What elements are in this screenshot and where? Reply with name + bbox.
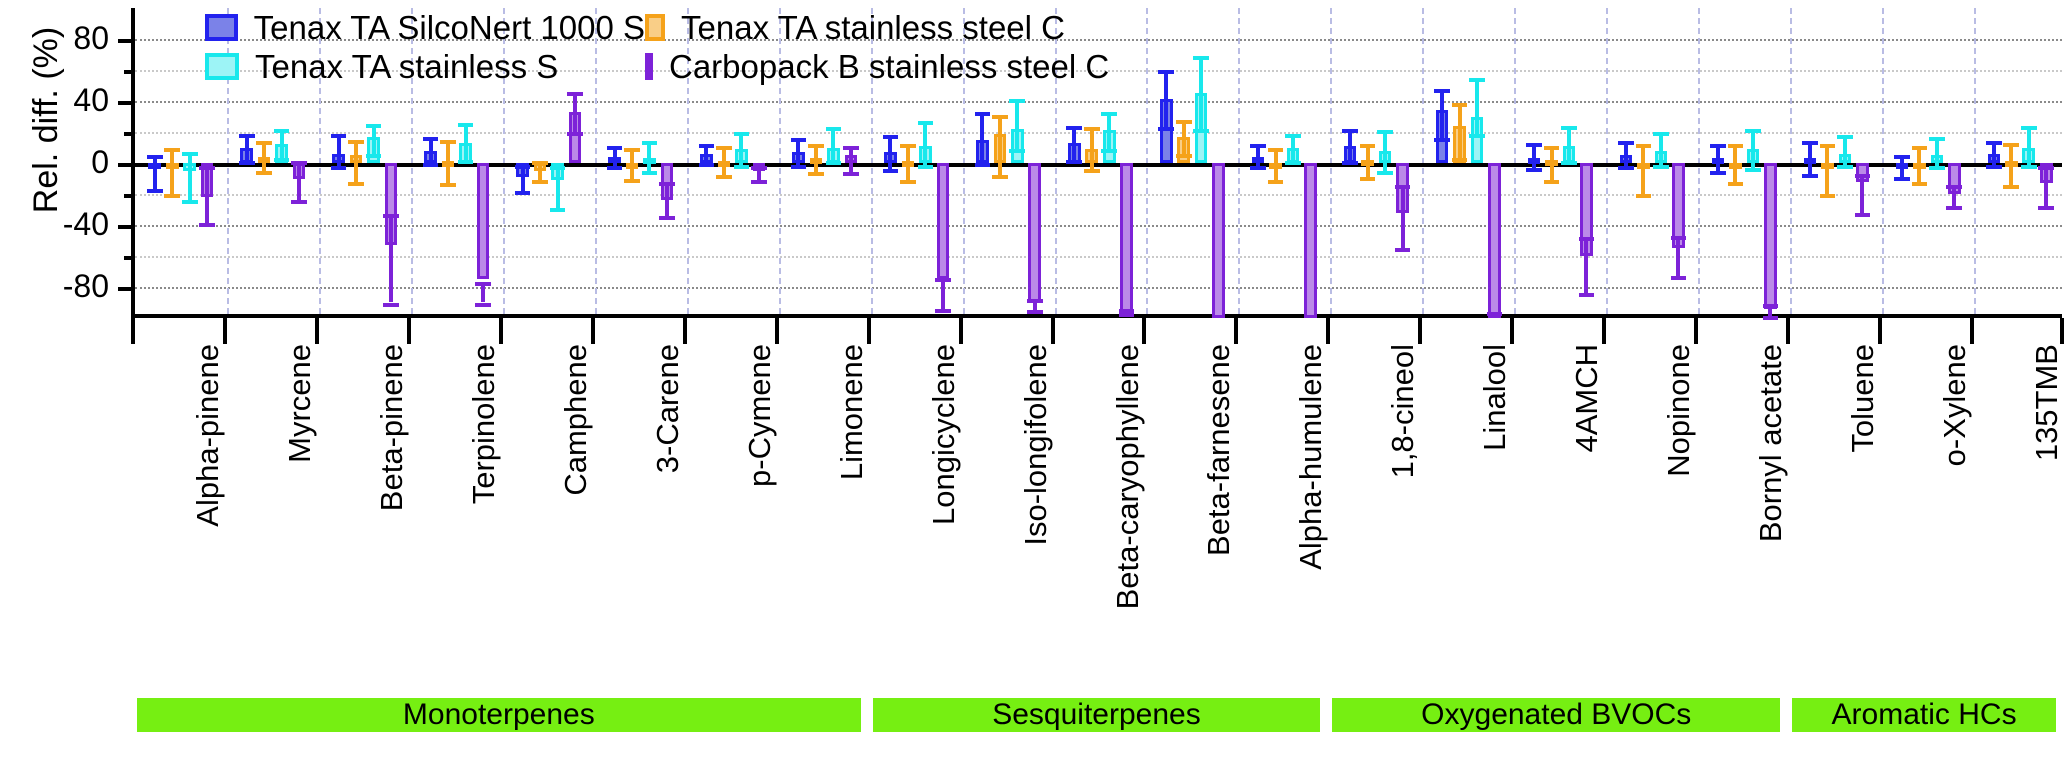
y-axis-tick-minor: [124, 256, 135, 260]
bar: [1488, 163, 1501, 318]
error-cap-upper: [808, 144, 824, 148]
error-bar: [1584, 237, 1588, 293]
error-cap-lower: [1820, 194, 1836, 198]
category-band: Aromatic HCs: [1792, 698, 2056, 732]
error-cap-upper: [475, 282, 491, 286]
error-cap-lower: [1671, 276, 1687, 280]
error-cap-upper: [1710, 144, 1726, 148]
x-axis-tick: [591, 318, 595, 344]
error-bar: [923, 121, 927, 164]
error-cap-upper: [1342, 129, 1358, 133]
error-cap-lower: [1929, 166, 1945, 170]
error-bar: [1401, 185, 1405, 249]
x-axis-tick: [499, 318, 503, 344]
error-cap-upper: [1487, 312, 1503, 316]
x-axis-tick: [1142, 318, 1146, 344]
error-cap-lower: [1027, 310, 1043, 314]
error-cap-lower: [440, 183, 456, 187]
y-axis-tick-minor: [124, 70, 135, 74]
error-cap-upper: [1360, 144, 1376, 148]
error-cap-lower: [751, 180, 767, 184]
error-cap-upper: [918, 121, 934, 125]
bar-group: [1974, 8, 2066, 314]
error-cap-upper: [1579, 237, 1595, 241]
error-cap-upper: [659, 182, 675, 186]
error-bar: [1550, 146, 1554, 180]
error-cap-lower: [532, 180, 548, 184]
error-bar: [280, 129, 284, 158]
error-cap-upper: [826, 127, 842, 131]
error-cap-lower: [1434, 138, 1450, 142]
x-axis-category-label: Myrcene: [282, 344, 318, 463]
error-cap-upper: [1855, 174, 1871, 178]
error-cap-upper: [550, 166, 566, 170]
bar: [1764, 163, 1777, 309]
error-cap-upper: [1176, 120, 1192, 124]
error-bar: [389, 214, 393, 302]
error-cap-lower: [567, 132, 583, 136]
error-cap-upper: [199, 166, 215, 170]
x-axis-category-label: Iso-longifolene: [1018, 344, 1054, 546]
error-cap-lower: [1802, 174, 1818, 178]
bar-group: [1330, 8, 1422, 314]
error-cap-lower: [239, 161, 255, 165]
error-cap-lower: [642, 171, 658, 175]
x-axis-category-label: Longicyclene: [926, 344, 962, 525]
y-axis-tick: [118, 163, 135, 167]
error-cap-upper: [751, 166, 767, 170]
error-bar: [1383, 130, 1387, 170]
error-cap-upper: [1837, 135, 1853, 139]
x-axis-category-label: p-Cymene: [742, 344, 778, 487]
error-cap-upper: [1946, 185, 1962, 189]
error-cap-upper: [975, 112, 991, 116]
error-cap-lower: [1066, 160, 1082, 164]
x-axis-tick: [1602, 318, 1606, 344]
error-cap-upper: [1526, 143, 1542, 147]
error-cap-lower: [2021, 165, 2037, 169]
error-cap-upper: [1084, 127, 1100, 131]
bar-group: [1238, 8, 1330, 314]
error-cap-lower: [1855, 213, 1871, 217]
error-cap-lower: [164, 194, 180, 198]
error-bar: [1348, 129, 1352, 162]
error-cap-lower: [1452, 158, 1468, 162]
error-cap-lower: [808, 172, 824, 176]
error-cap-lower: [1377, 171, 1393, 175]
legend-item[interactable]: Tenax TA stainless S: [205, 48, 645, 86]
x-axis-tick: [1326, 318, 1330, 344]
legend-label: Tenax TA stainless steel C: [681, 9, 1065, 47]
error-cap-lower: [1268, 180, 1284, 184]
error-cap-upper: [1728, 144, 1744, 148]
error-cap-lower: [826, 161, 842, 165]
x-axis-category-label: 135TMB: [2029, 344, 2065, 461]
bar: [1212, 163, 1225, 318]
error-cap-upper: [716, 146, 732, 150]
error-bar: [1808, 141, 1812, 174]
error-cap-upper: [1763, 304, 1779, 308]
bar-group: [1514, 8, 1606, 314]
error-bar: [1440, 89, 1444, 139]
x-axis-category-label: Linalool: [1477, 344, 1513, 451]
x-axis-tick: [407, 318, 411, 344]
bar: [1304, 163, 1317, 318]
error-bar: [2009, 143, 2013, 185]
error-cap-upper: [935, 278, 951, 282]
error-cap-lower: [331, 166, 347, 170]
x-axis-category-label: Nopinone: [1661, 344, 1697, 477]
error-cap-upper: [1929, 137, 1945, 141]
x-axis-category-label: Beta-farnesene: [1201, 344, 1237, 556]
error-cap-upper: [1452, 103, 1468, 107]
error-bar: [1676, 236, 1680, 276]
error-cap-upper: [440, 140, 456, 144]
bar: [477, 163, 490, 279]
error-cap-upper: [1894, 155, 1910, 159]
error-bar: [556, 166, 560, 208]
x-axis-category-label: Alpha-humulene: [1293, 344, 1329, 570]
error-cap-upper: [1434, 89, 1450, 93]
error-cap-lower: [1894, 177, 1910, 181]
error-bar: [1641, 144, 1645, 194]
error-cap-lower: [1360, 177, 1376, 181]
error-cap-lower: [1710, 171, 1726, 175]
error-cap-upper: [642, 141, 658, 145]
error-bar: [1090, 127, 1094, 169]
legend-item[interactable]: Tenax TA SilcoNert 1000 S: [205, 9, 645, 47]
error-cap-lower: [1946, 206, 1962, 210]
legend-swatch: [205, 53, 239, 80]
error-cap-lower: [1544, 180, 1560, 184]
x-axis-tick: [1694, 318, 1698, 344]
error-cap-upper: [1544, 146, 1560, 150]
error-cap-upper: [900, 144, 916, 148]
error-cap-upper: [532, 161, 548, 165]
error-cap-lower: [659, 216, 675, 220]
error-cap-lower: [1119, 313, 1135, 317]
error-bar: [1917, 146, 1921, 182]
error-cap-upper: [734, 132, 750, 136]
error-bar: [1072, 126, 1076, 160]
legend-swatch: [645, 53, 653, 80]
legend-item[interactable]: Tenax TA stainless steel C: [645, 9, 1065, 47]
error-cap-upper: [1158, 70, 1174, 74]
error-cap-lower: [383, 303, 399, 307]
error-bar: [1733, 144, 1737, 181]
y-axis-tick-label: 80: [19, 22, 109, 54]
x-axis-tick: [1418, 318, 1422, 344]
error-cap-upper: [699, 144, 715, 148]
error-cap-upper: [1193, 56, 1209, 60]
error-bar: [464, 123, 468, 160]
error-cap-lower: [1618, 166, 1634, 170]
legend-label: Carbopack B stainless steel C: [669, 48, 1109, 86]
error-cap-upper: [1986, 141, 2002, 145]
x-axis-tick: [1510, 318, 1514, 344]
legend-label: Tenax TA SilcoNert 1000 S: [254, 9, 645, 47]
error-bar: [1164, 70, 1168, 127]
error-cap-lower: [274, 158, 290, 162]
error-cap-lower: [734, 165, 750, 169]
error-cap-lower: [348, 182, 364, 186]
x-axis-tick: [959, 318, 963, 344]
error-bar: [980, 112, 984, 163]
y-axis-tick: [118, 39, 135, 43]
error-bar: [1291, 134, 1295, 162]
error-cap-upper: [458, 123, 474, 127]
error-cap-upper: [348, 140, 364, 144]
error-cap-lower: [1561, 161, 1577, 165]
error-cap-upper: [182, 152, 198, 156]
error-cap-lower: [1342, 161, 1358, 165]
error-cap-upper: [1912, 146, 1928, 150]
bar: [1120, 163, 1133, 312]
error-bar: [372, 124, 376, 153]
error-bar: [2027, 126, 2031, 165]
error-bar: [665, 182, 669, 216]
error-cap-upper: [423, 137, 439, 141]
error-cap-lower: [900, 180, 916, 184]
error-cap-lower: [607, 166, 623, 170]
x-axis-tick: [2060, 318, 2064, 344]
error-cap-upper: [256, 141, 272, 145]
error-cap-lower: [2038, 206, 2054, 210]
error-cap-upper: [1066, 126, 1082, 130]
bar-group: [1698, 8, 1790, 314]
error-cap-lower: [1285, 161, 1301, 165]
error-cap-lower: [1636, 194, 1652, 198]
error-bar: [1751, 129, 1755, 168]
error-cap-upper: [164, 148, 180, 152]
error-bar: [446, 140, 450, 183]
error-cap-upper: [1119, 309, 1135, 313]
x-axis-category-label: Alpha-pinene: [190, 344, 226, 527]
error-bar: [170, 148, 174, 195]
error-bar: [739, 132, 743, 165]
error-cap-upper: [1561, 126, 1577, 130]
error-cap-upper: [1009, 99, 1025, 103]
x-axis-tick: [775, 318, 779, 344]
x-axis-category-labels: Alpha-pineneMyrceneBeta-pineneTerpinolen…: [131, 344, 2062, 644]
error-bar: [1458, 103, 1462, 159]
error-bar: [647, 141, 651, 170]
error-bar: [2044, 166, 2048, 206]
category-band: Sesquiterpenes: [873, 698, 1321, 732]
error-cap-lower: [699, 163, 715, 167]
error-cap-lower: [2003, 185, 2019, 189]
error-cap-lower: [843, 172, 859, 176]
error-bar: [1475, 78, 1479, 134]
error-cap-upper: [1671, 236, 1687, 240]
error-cap-lower: [935, 309, 951, 313]
x-axis-tick: [867, 318, 871, 344]
y-axis-tick-label: -80: [19, 270, 109, 302]
error-cap-upper: [239, 134, 255, 138]
error-bar: [188, 152, 192, 200]
bar-group: [1790, 8, 1882, 314]
x-axis-category-label: Limonene: [834, 344, 870, 480]
x-axis-tick: [1234, 318, 1238, 344]
x-axis-category-label: Beta-caryophyllene: [1110, 344, 1146, 609]
bar: [937, 163, 950, 279]
x-axis-category-label: 4AMCH: [1569, 344, 1605, 453]
bar-group: [1606, 8, 1698, 314]
error-cap-lower: [1728, 182, 1744, 186]
x-axis-tick: [1970, 318, 1974, 344]
x-axis-tick: [683, 318, 687, 344]
x-axis-category-label: o-Xylene: [1937, 344, 1973, 466]
x-axis-ticks: [131, 318, 2062, 344]
bar-group: [1882, 8, 1974, 314]
error-cap-lower: [1193, 129, 1209, 133]
error-cap-upper: [791, 138, 807, 142]
error-bar: [297, 161, 301, 200]
error-cap-lower: [1653, 165, 1669, 169]
error-bar: [1935, 137, 1939, 166]
x-axis-category-label: Terpinolene: [466, 344, 502, 504]
y-axis-tick-minor: [124, 132, 135, 136]
error-cap-upper: [1802, 141, 1818, 145]
error-cap-upper: [883, 135, 899, 139]
bar: [1028, 163, 1041, 303]
error-cap-upper: [331, 134, 347, 138]
error-cap-upper: [2021, 126, 2037, 130]
error-cap-lower: [1745, 168, 1761, 172]
y-axis-tick: [118, 101, 135, 105]
legend: Tenax TA SilcoNert 1000 STenax TA stainl…: [205, 8, 1065, 86]
legend-swatch: [205, 14, 238, 41]
x-axis-category-label: Camphene: [558, 344, 594, 496]
error-cap-lower: [716, 175, 732, 179]
error-cap-upper: [567, 92, 583, 96]
error-cap-lower: [182, 200, 198, 204]
error-cap-lower: [475, 303, 491, 307]
error-bar: [1366, 144, 1370, 177]
y-axis-tick: [118, 225, 135, 229]
error-cap-upper: [624, 148, 640, 152]
error-cap-upper: [1377, 130, 1393, 134]
error-cap-lower: [256, 171, 272, 175]
error-cap-upper: [607, 146, 623, 150]
error-cap-upper: [1268, 148, 1284, 152]
error-cap-upper: [383, 214, 399, 218]
error-cap-lower: [883, 169, 899, 173]
error-cap-upper: [1250, 144, 1266, 148]
error-cap-upper: [1745, 129, 1761, 133]
y-axis-tick-label: 0: [19, 146, 109, 178]
error-bar: [262, 141, 266, 170]
x-axis-category-label: Beta-pinene: [374, 344, 410, 511]
x-axis-tick: [223, 318, 227, 344]
error-bar: [337, 134, 341, 167]
x-axis-category-label: Bornyl acetate: [1753, 344, 1789, 542]
error-cap-lower: [1084, 169, 1100, 173]
category-band-row: MonoterpenesSesquiterpenesOxygenated BVO…: [0, 698, 2067, 732]
error-cap-upper: [1618, 141, 1634, 145]
legend-item[interactable]: Carbopack B stainless steel C: [645, 48, 1065, 86]
error-bar: [814, 144, 818, 172]
error-bar: [1199, 56, 1203, 129]
error-cap-upper: [843, 146, 859, 150]
error-bar: [998, 115, 1002, 175]
error-cap-lower: [1009, 149, 1025, 153]
error-bar: [1860, 174, 1864, 213]
x-axis-tick: [1786, 318, 1790, 344]
error-cap-upper: [1027, 299, 1043, 303]
x-axis-tick: [1051, 318, 1055, 344]
legend-swatch: [645, 14, 665, 41]
legend-label: Tenax TA stainless S: [255, 48, 558, 86]
error-cap-lower: [1158, 127, 1174, 131]
error-cap-upper: [1653, 132, 1669, 136]
error-cap-lower: [550, 208, 566, 212]
error-cap-upper: [1636, 144, 1652, 148]
bar-group: [1422, 8, 1514, 314]
error-cap-lower: [1986, 165, 2002, 169]
error-bar: [831, 127, 835, 161]
error-bar: [1107, 112, 1111, 149]
error-cap-lower: [992, 175, 1008, 179]
error-bar: [1015, 99, 1019, 149]
error-cap-upper: [147, 155, 163, 159]
error-cap-lower: [624, 179, 640, 183]
error-bar: [573, 92, 577, 132]
error-cap-lower: [1526, 168, 1542, 172]
y-axis-tick-label: 40: [19, 84, 109, 116]
error-cap-lower: [1579, 293, 1595, 297]
x-axis-category-label: 1,8-cineol: [1385, 344, 1421, 478]
error-cap-lower: [199, 223, 215, 227]
error-cap-lower: [1395, 248, 1411, 252]
error-bar: [1825, 144, 1829, 194]
error-cap-upper: [274, 129, 290, 133]
error-cap-upper: [1820, 144, 1836, 148]
error-bar: [1567, 126, 1571, 162]
error-cap-lower: [975, 163, 991, 167]
error-cap-upper: [291, 161, 307, 165]
x-axis-tick: [315, 318, 319, 344]
error-cap-lower: [423, 163, 439, 167]
error-cap-lower: [366, 154, 382, 158]
chart-root: Rel. diff. (%) 80400-40-80 Tenax TA Silc…: [0, 0, 2067, 757]
error-cap-lower: [1837, 165, 1853, 169]
error-bar: [630, 148, 634, 179]
category-band: Monoterpenes: [137, 698, 861, 732]
y-axis-tick-minor: [124, 194, 135, 198]
error-bar: [906, 144, 910, 180]
error-cap-upper: [2038, 166, 2054, 170]
error-cap-upper: [515, 165, 531, 169]
error-cap-lower: [1469, 134, 1485, 138]
error-cap-upper: [1469, 78, 1485, 82]
error-cap-lower: [1912, 182, 1928, 186]
error-cap-upper: [366, 124, 382, 128]
error-cap-upper: [1101, 112, 1117, 116]
error-cap-lower: [458, 160, 474, 164]
error-bar: [1274, 148, 1278, 181]
x-axis-category-label: Toluene: [1845, 344, 1881, 453]
error-bar: [354, 140, 358, 182]
error-bar: [1659, 132, 1663, 165]
error-cap-lower: [791, 165, 807, 169]
error-cap-upper: [1285, 134, 1301, 138]
error-cap-lower: [1101, 149, 1117, 153]
error-cap-upper: [1395, 185, 1411, 189]
y-axis-tick: [118, 287, 135, 291]
error-bar: [153, 155, 157, 189]
error-bar: [888, 135, 892, 169]
